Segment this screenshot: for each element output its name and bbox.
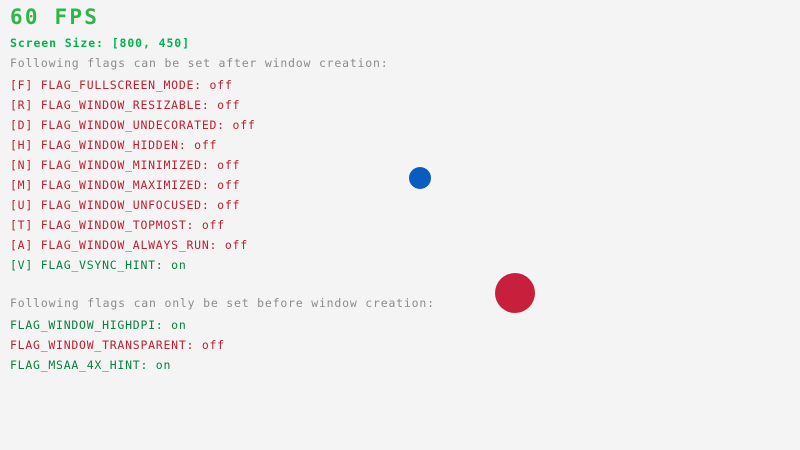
flag-row[interactable]: [N] FLAG_WINDOW_MINIMIZED: off: [10, 160, 240, 172]
blue-ball: [409, 167, 431, 189]
red-ball: [495, 273, 535, 313]
fps-counter: 60 FPS: [10, 7, 99, 28]
screen-size-label: Screen Size: [800, 450]: [10, 38, 190, 50]
flag-row[interactable]: [A] FLAG_WINDOW_ALWAYS_RUN: off: [10, 240, 248, 252]
flag-row[interactable]: [M] FLAG_WINDOW_MAXIMIZED: off: [10, 180, 240, 192]
raylib-window: 60 FPS Screen Size: [800, 450] Following…: [0, 0, 800, 450]
creation-flags-header: Following flags can only be set before w…: [10, 298, 435, 310]
flag-row[interactable]: FLAG_WINDOW_TRANSPARENT: off: [10, 340, 225, 352]
flag-row[interactable]: [R] FLAG_WINDOW_RESIZABLE: off: [10, 100, 240, 112]
flag-row[interactable]: [F] FLAG_FULLSCREEN_MODE: off: [10, 80, 233, 92]
flag-row[interactable]: FLAG_MSAA_4X_HINT: on: [10, 360, 171, 372]
runtime-flags-header: Following flags can be set after window …: [10, 58, 388, 70]
flag-row[interactable]: [U] FLAG_WINDOW_UNFOCUSED: off: [10, 200, 240, 212]
flag-row[interactable]: [T] FLAG_WINDOW_TOPMOST: off: [10, 220, 225, 232]
flag-row[interactable]: [H] FLAG_WINDOW_HIDDEN: off: [10, 140, 217, 152]
flag-row[interactable]: [V] FLAG_VSYNC_HINT: on: [10, 260, 187, 272]
flag-row[interactable]: FLAG_WINDOW_HIGHDPI: on: [10, 320, 187, 332]
flag-row[interactable]: [D] FLAG_WINDOW_UNDECORATED: off: [10, 120, 256, 132]
